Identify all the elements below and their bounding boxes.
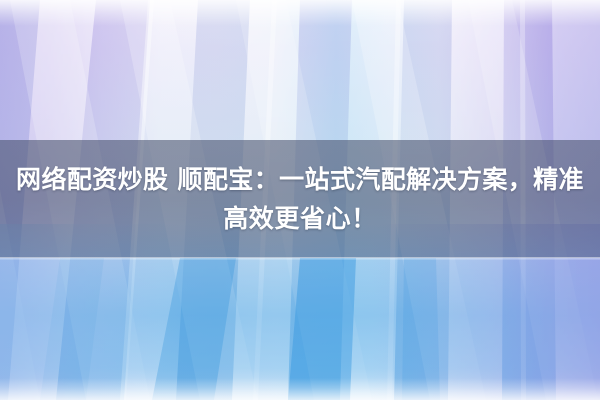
headline-line-1: 网络配资炒股 顺配宝：一站式汽配解决方案，精准 xyxy=(16,160,584,199)
promo-banner: 网络配资炒股 顺配宝：一站式汽配解决方案，精准 高效更省心！ xyxy=(0,0,600,400)
headline-line-2: 高效更省心！ xyxy=(223,199,377,238)
background-bottom-fade xyxy=(0,378,600,400)
headline-block: 网络配资炒股 顺配宝：一站式汽配解决方案，精准 高效更省心！ xyxy=(0,140,600,258)
background-top-fade xyxy=(0,0,600,26)
